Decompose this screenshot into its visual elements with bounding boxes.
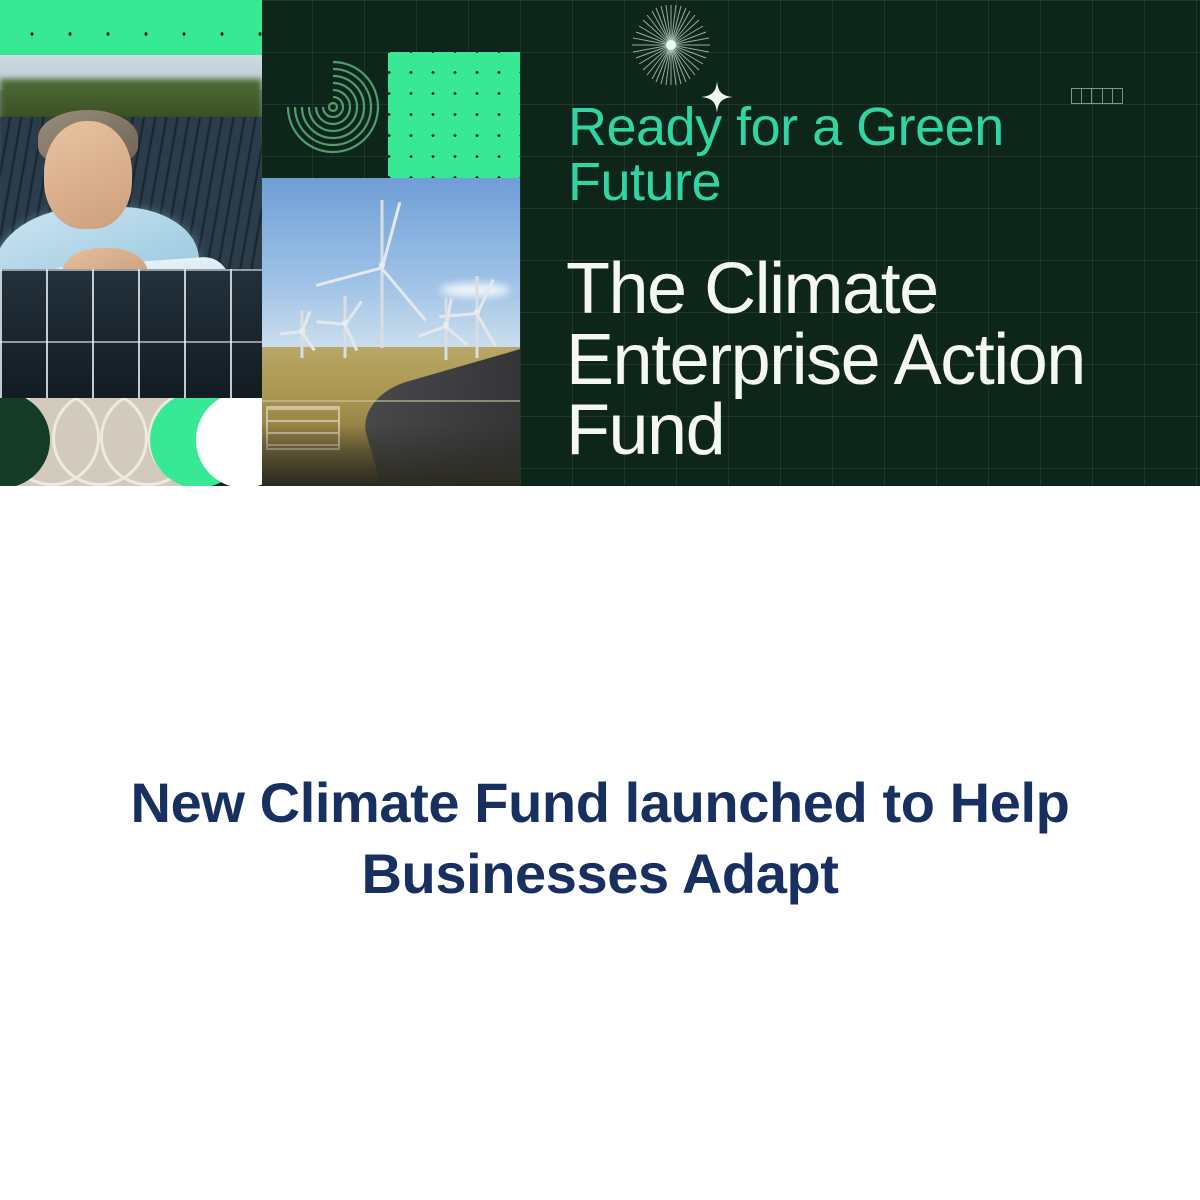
article-headline: New Climate Fund launched to Help Busine… <box>0 768 1200 909</box>
hero-eyebrow-text: Ready for a Green Future <box>568 100 1128 210</box>
radial-starburst-icon <box>628 2 714 88</box>
green-dotted-bar <box>0 0 262 55</box>
wind-turbine <box>352 200 412 348</box>
hero-banner: Ready for a Green Future The Climate Ent… <box>0 0 1200 486</box>
man-at-solar-panels-photo <box>0 55 262 400</box>
photo-person-face <box>44 121 132 229</box>
green-dotted-square <box>388 52 520 178</box>
wind-turbine <box>332 296 358 358</box>
article-page: Ready for a Green Future The Climate Ent… <box>0 0 1200 1200</box>
photo-foreground-shadow <box>262 424 520 486</box>
wind-turbine <box>458 276 496 358</box>
wind-turbine <box>292 310 312 358</box>
wind-turbines-photo <box>262 178 520 486</box>
photo-fence-line <box>262 400 520 402</box>
hero-title-text: The Climate Enterprise Action Fund <box>566 254 1200 466</box>
wind-turbine <box>432 298 460 360</box>
overlapping-circles-strip <box>0 398 262 486</box>
concentric-spiral-icon <box>278 52 388 162</box>
photo-solar-panel-foreground <box>0 269 262 400</box>
